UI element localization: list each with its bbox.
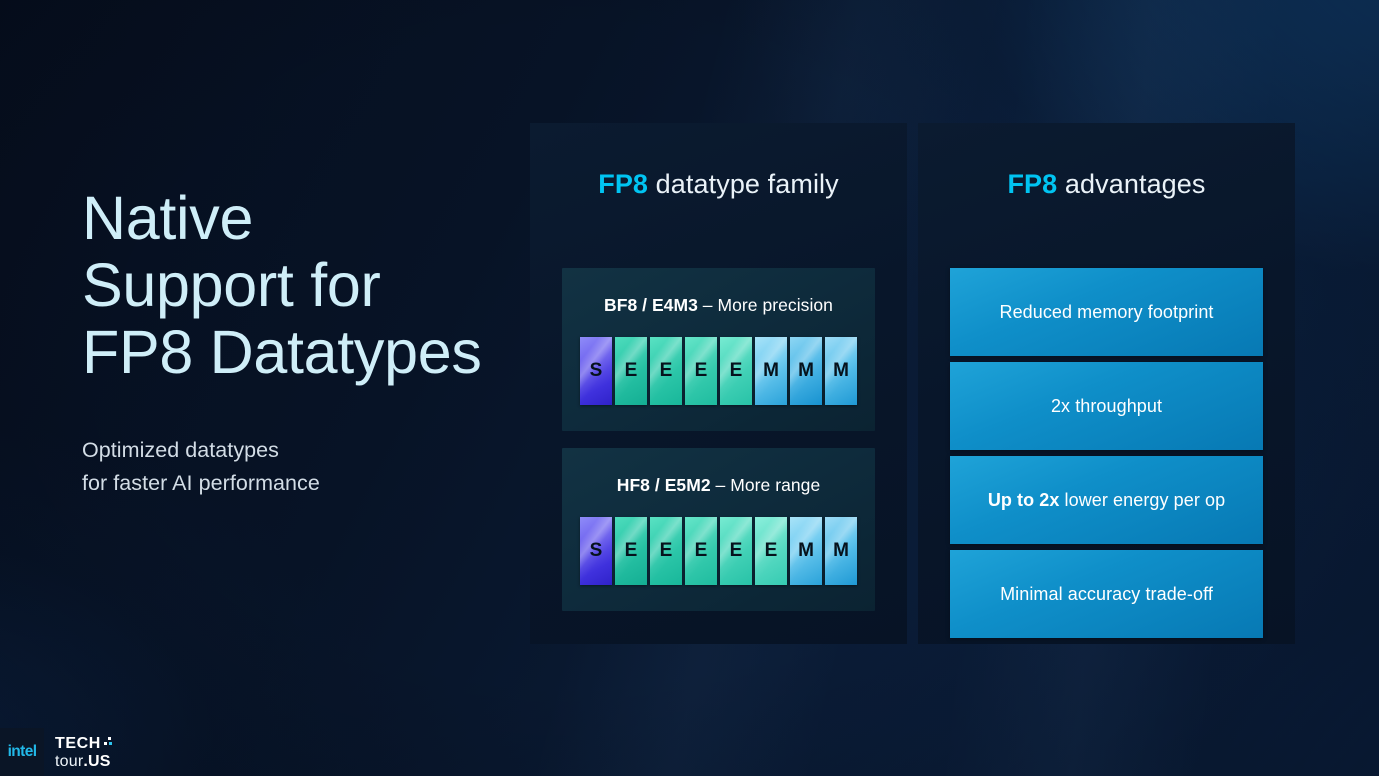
intel-logo: intel xyxy=(0,728,44,776)
panel-heading-accent: FP8 xyxy=(1007,169,1057,199)
bit-cell-exponent-2: E xyxy=(650,337,682,405)
bit-glyph: S xyxy=(590,360,603,382)
bit-glyph: E xyxy=(765,540,778,562)
bit-cell-mantissa-2: M xyxy=(790,337,822,405)
bit-cell-exponent-5: E xyxy=(755,517,787,585)
datatype-code-hf8: HF8 / E5M2 xyxy=(617,475,711,495)
bit-cell-mantissa-1: M xyxy=(790,517,822,585)
advantage-label: Minimal accuracy trade-off xyxy=(1000,584,1213,604)
datatype-label-hf8: HF8 / E5M2 – More range xyxy=(562,475,875,496)
bit-cell-mantissa-1: M xyxy=(755,337,787,405)
panel-heading-accent: FP8 xyxy=(598,169,648,199)
panel-heading-advantages: FP8 advantages xyxy=(918,169,1295,200)
pixel-dots-icon xyxy=(104,736,113,749)
datatype-desc-bf8: – More precision xyxy=(698,295,833,315)
advantage-card-memory-footprint[interactable]: Reduced memory footprint xyxy=(950,268,1263,356)
slide-root: Native Support for FP8 Datatypes Optimiz… xyxy=(0,0,1379,776)
bit-glyph: M xyxy=(833,540,849,562)
bit-glyph: E xyxy=(730,540,743,562)
advantages-list: Reduced memory footprint 2x throughput U… xyxy=(950,268,1263,638)
tech-wordmark: TECH xyxy=(55,736,101,752)
bit-glyph: S xyxy=(590,540,603,562)
bit-glyph: M xyxy=(763,360,779,382)
tech-tour-logo-row-bottom: tour.US xyxy=(55,754,113,770)
bit-cell-exponent-1: E xyxy=(615,337,647,405)
datatype-card-bf8-e4m3[interactable]: BF8 / E4M3 – More precision S E E E E M … xyxy=(562,268,875,431)
bit-glyph: E xyxy=(695,540,708,562)
datatype-code-bf8: BF8 / E4M3 xyxy=(604,295,698,315)
bit-cell-mantissa-2: M xyxy=(825,517,857,585)
advantage-label: Reduced memory footprint xyxy=(999,302,1213,322)
bit-glyph: M xyxy=(833,360,849,382)
us-wordmark: .US xyxy=(83,753,110,770)
intel-wordmark: intel xyxy=(8,743,37,761)
bit-glyph: E xyxy=(625,360,638,382)
page-title: Native Support for FP8 Datatypes xyxy=(82,185,512,386)
headline-block: Native Support for FP8 Datatypes Optimiz… xyxy=(82,185,512,499)
advantage-card-accuracy-tradeoff[interactable]: Minimal accuracy trade-off xyxy=(950,550,1263,638)
panel-fp8-datatype-family: FP8 datatype family BF8 / E4M3 – More pr… xyxy=(530,123,907,644)
panel-heading-rest: datatype family xyxy=(648,169,839,199)
footer-logo-bar: intel TECH tour.US xyxy=(0,728,123,776)
bit-glyph: M xyxy=(798,540,814,562)
datatype-card-hf8-e5m2[interactable]: HF8 / E5M2 – More range S E E E E E M M xyxy=(562,448,875,611)
panel-fp8-advantages: FP8 advantages Reduced memory footprint … xyxy=(918,123,1295,644)
advantage-card-lower-energy[interactable]: Up to 2x lower energy per op xyxy=(950,456,1263,544)
bit-glyph: M xyxy=(798,360,814,382)
bit-cell-exponent-3: E xyxy=(685,337,717,405)
bit-layout-bf8: S E E E E M M M xyxy=(580,337,857,405)
bit-glyph: E xyxy=(695,360,708,382)
bit-cell-exponent-2: E xyxy=(650,517,682,585)
tech-tour-logo-row-top: TECH xyxy=(55,736,113,752)
bit-glyph: E xyxy=(660,360,673,382)
bit-cell-exponent-3: E xyxy=(685,517,717,585)
bit-layout-hf8: S E E E E E M M xyxy=(580,517,857,585)
bit-cell-exponent-1: E xyxy=(615,517,647,585)
advantage-label: 2x throughput xyxy=(1051,396,1162,416)
bit-glyph: E xyxy=(660,540,673,562)
datatype-desc-hf8: – More range xyxy=(711,475,821,495)
tech-tour-logo: TECH tour.US xyxy=(44,736,123,776)
bit-cell-mantissa-3: M xyxy=(825,337,857,405)
bit-cell-sign: S xyxy=(580,517,612,585)
advantage-strong: Up to 2x xyxy=(988,490,1060,510)
datatype-label-bf8: BF8 / E4M3 – More precision xyxy=(562,295,875,316)
bit-glyph: E xyxy=(730,360,743,382)
page-subtitle: Optimized datatypes for faster AI perfor… xyxy=(82,434,512,499)
advantage-card-throughput[interactable]: 2x throughput xyxy=(950,362,1263,450)
panel-heading-rest: advantages xyxy=(1057,169,1205,199)
advantage-label: lower energy per op xyxy=(1059,490,1225,510)
bit-cell-exponent-4: E xyxy=(720,337,752,405)
tour-wordmark: tour xyxy=(55,753,83,770)
panel-heading-datatype-family: FP8 datatype family xyxy=(530,169,907,200)
bit-cell-exponent-4: E xyxy=(720,517,752,585)
bit-cell-sign: S xyxy=(580,337,612,405)
bit-glyph: E xyxy=(625,540,638,562)
